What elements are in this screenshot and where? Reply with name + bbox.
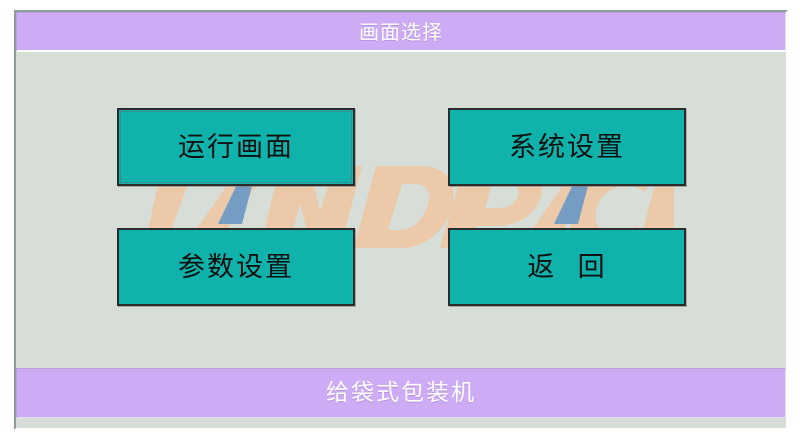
button-return[interactable]: 返 回: [448, 228, 686, 306]
button-parameter-settings[interactable]: 参数设置: [117, 228, 355, 306]
machine-name: 给袋式包装机: [326, 382, 476, 405]
button-system-settings-label: 系统设置: [509, 134, 625, 161]
title-bar: 画面选择: [16, 12, 786, 52]
page-title: 画面选择: [359, 22, 443, 42]
button-run-screen-label: 运行画面: [178, 134, 294, 161]
footer-bar: 给袋式包装机: [16, 368, 786, 418]
button-system-settings[interactable]: 系统设置: [448, 108, 686, 186]
button-run-screen[interactable]: 运行画面: [117, 108, 355, 186]
button-return-label: 返 回: [527, 254, 606, 281]
work-area: 运行画面 系统设置 参数设置 返 回: [16, 56, 786, 366]
hmi-screen: 画面选择: [0, 0, 804, 444]
button-parameter-settings-label: 参数设置: [178, 254, 294, 281]
